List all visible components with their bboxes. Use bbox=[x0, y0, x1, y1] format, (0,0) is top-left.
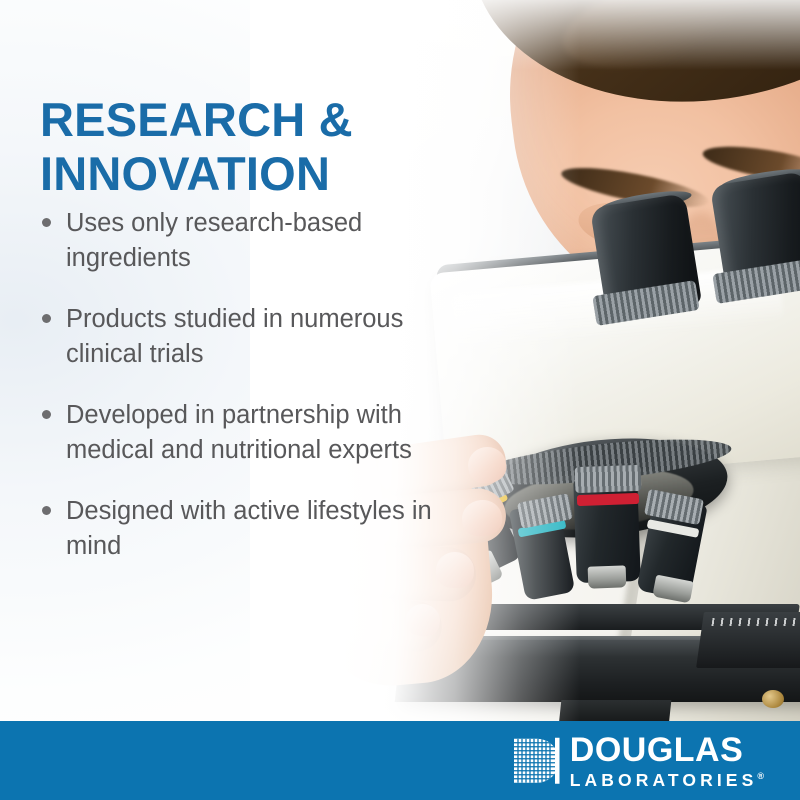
list-item: Developed in partnership with medical an… bbox=[40, 398, 460, 468]
benefit-list: Uses only research-based ingredients Pro… bbox=[40, 206, 460, 590]
bullet-dot-icon bbox=[42, 410, 51, 419]
bullet-dot-icon bbox=[42, 506, 51, 515]
douglas-d-mark-icon bbox=[511, 736, 561, 786]
promo-banner: RESEARCH & INNOVATION Uses only research… bbox=[0, 0, 800, 800]
logo-wordmark: DOUGLAS LABORATORIES® bbox=[570, 732, 764, 789]
bullet-dot-icon bbox=[42, 314, 51, 323]
headline-line-2: INNOVATION bbox=[40, 147, 470, 201]
logo-name-primary: DOUGLAS bbox=[570, 732, 764, 766]
logo-name-secondary-text: LABORATORIES bbox=[570, 769, 758, 789]
registered-trademark-icon: ® bbox=[757, 770, 764, 780]
copy-block: RESEARCH & INNOVATION Uses only research… bbox=[0, 0, 800, 726]
brand-footer-bar: DOUGLAS LABORATORIES® bbox=[0, 721, 800, 800]
list-item: Products studied in numerous clinical tr… bbox=[40, 302, 460, 372]
logo-name-secondary: LABORATORIES® bbox=[570, 771, 764, 789]
list-item: Uses only research-based ingredients bbox=[40, 206, 460, 276]
list-item-label: Uses only research-based ingredients bbox=[66, 209, 362, 272]
list-item: Designed with active lifestyles in mind bbox=[40, 494, 460, 564]
headline-line-1: RESEARCH & bbox=[40, 93, 353, 146]
douglas-laboratories-logo: DOUGLAS LABORATORIES® bbox=[511, 732, 764, 789]
page-title: RESEARCH & INNOVATION bbox=[40, 93, 470, 201]
list-item-label: Developed in partnership with medical an… bbox=[66, 401, 412, 464]
bullet-dot-icon bbox=[42, 218, 51, 227]
list-item-label: Designed with active lifestyles in mind bbox=[66, 497, 432, 560]
list-item-label: Products studied in numerous clinical tr… bbox=[66, 305, 403, 368]
